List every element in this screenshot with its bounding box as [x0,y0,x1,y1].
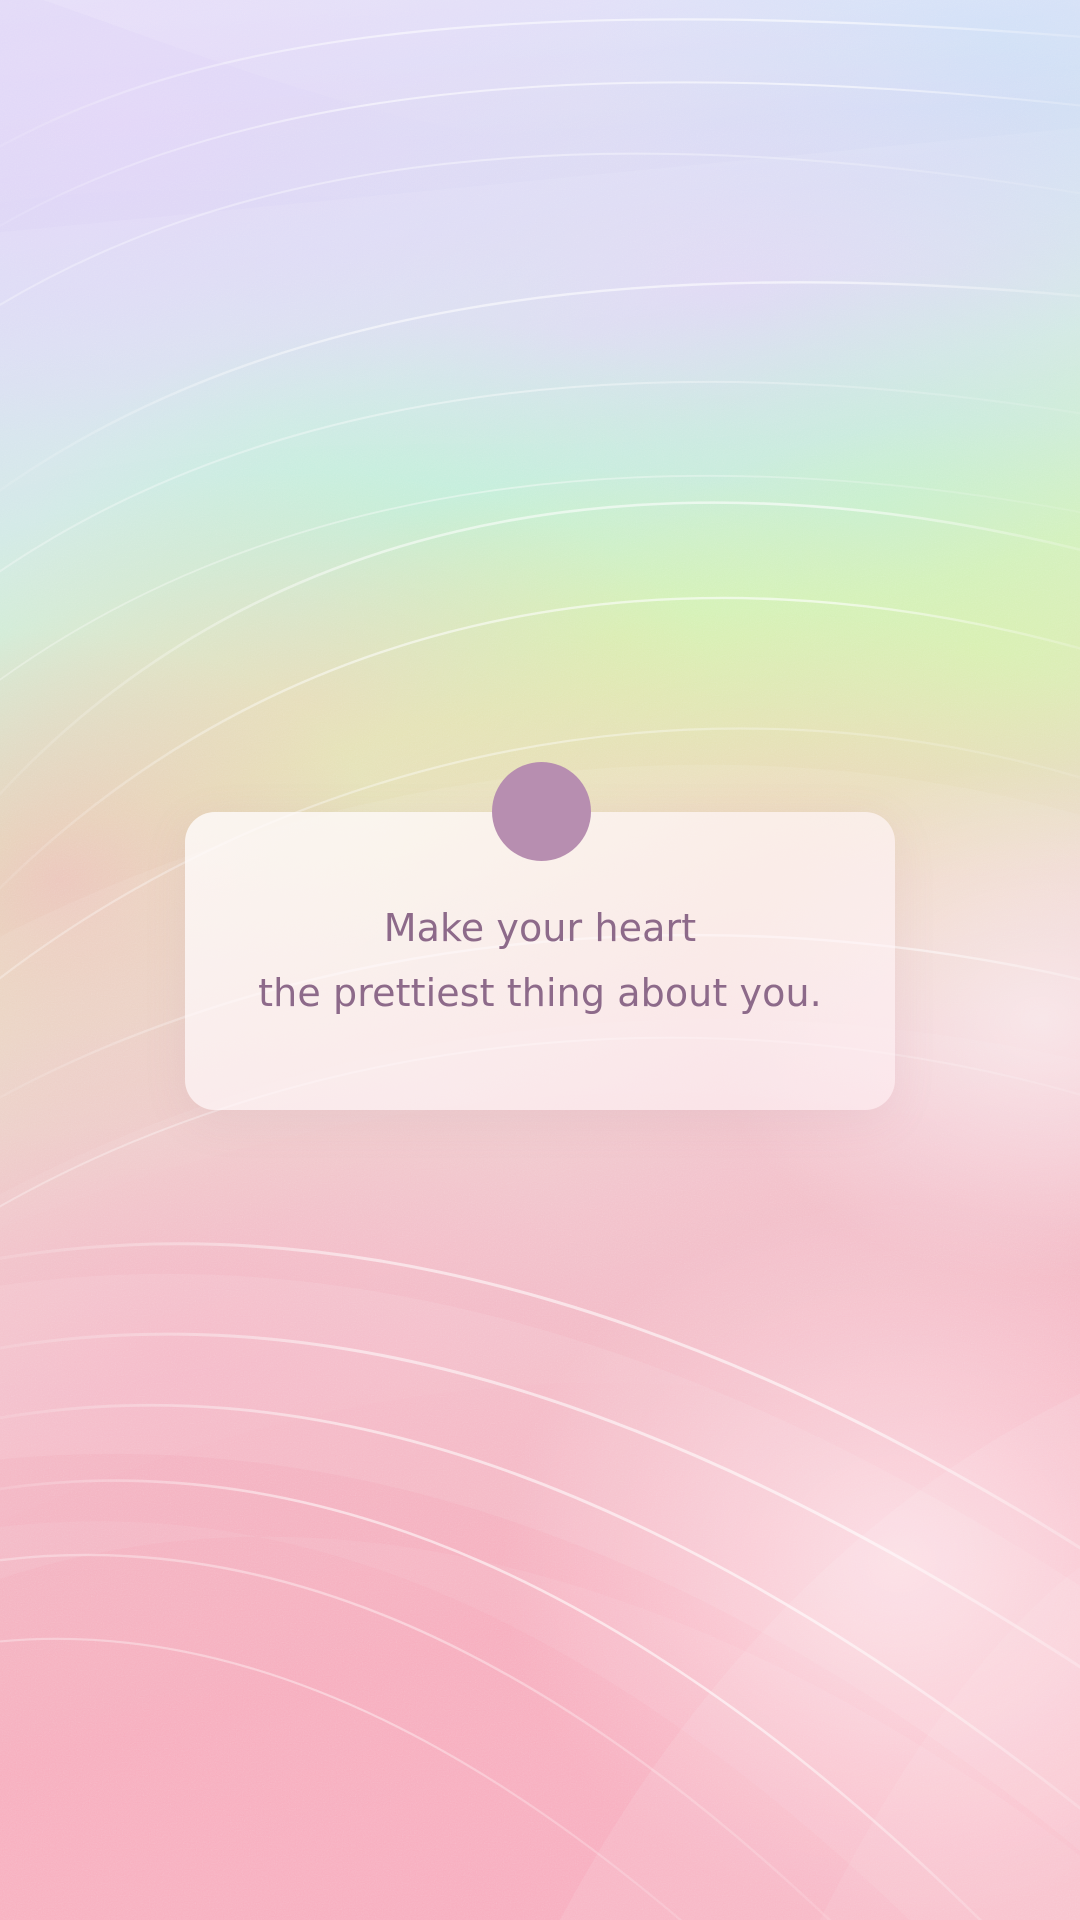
decorative-circle [492,762,591,861]
quote-line-1: Make your heart [384,906,696,951]
wallpaper-canvas: Make your heart the prettiest thing abou… [0,0,1080,1920]
quote-line-2: the prettiest thing about you. [258,971,822,1016]
